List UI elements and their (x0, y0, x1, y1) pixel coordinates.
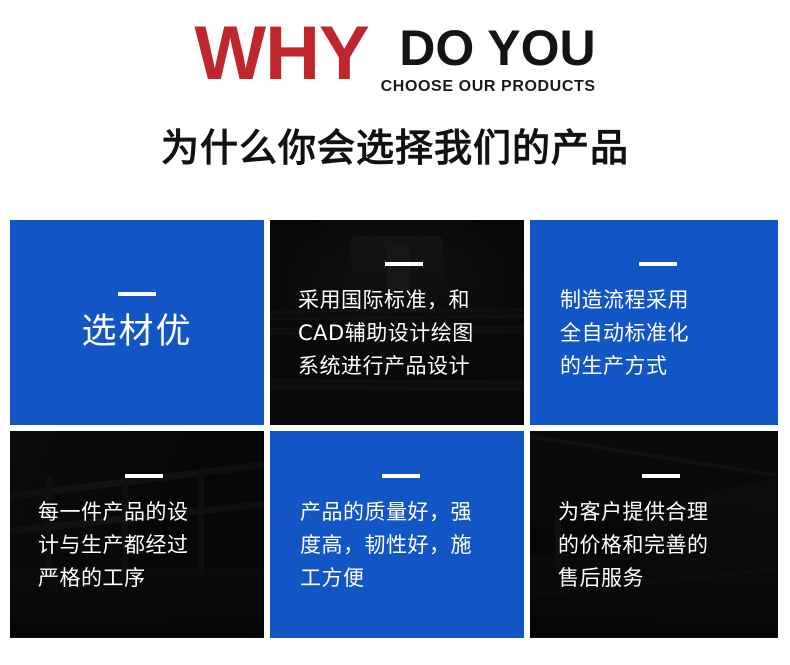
feature-card-content: 采用国际标准，和 CAD辅助设计绘图 系统进行产品设计 (270, 262, 524, 383)
feature-card-content: 产品的质量好，强 度高，韧性好，施 工方便 (270, 474, 524, 595)
feature-card-automated-production[interactable]: 制造流程采用 全自动标准化 的生产方式 (530, 220, 778, 425)
divider-rule-icon (125, 474, 163, 478)
headline-english: WHY DO YOU CHOOSE OUR PRODUCTS (0, 16, 790, 94)
divider-rule-icon (642, 474, 680, 478)
divider-rule-icon (385, 262, 423, 266)
feature-card-content: 制造流程采用 全自动标准化 的生产方式 (530, 262, 778, 383)
feature-card-international-standard[interactable]: 采用国际标准，和 CAD辅助设计绘图 系统进行产品设计 (270, 220, 524, 425)
divider-rule-icon (382, 474, 420, 478)
headline-accent-word: WHY (194, 16, 368, 92)
feature-card-text: 选材优 (10, 310, 264, 354)
feature-card-quality-strength[interactable]: 产品的质量好，强 度高，韧性好，施 工方便 (270, 431, 524, 638)
headline-chinese: 为什么你会选择我们的产品 (0, 126, 790, 170)
headline-main-words: DO YOU (399, 22, 595, 74)
feature-card-text: 每一件产品的设 计与生产都经过 严格的工序 (38, 496, 250, 595)
overhead-wire (530, 432, 778, 479)
feature-card-text: 采用国际标准，和 CAD辅助设计绘图 系统进行产品设计 (298, 284, 510, 383)
feature-card-text: 制造流程采用 全自动标准化 的生产方式 (560, 284, 756, 383)
banner-header: WHY DO YOU CHOOSE OUR PRODUCTS 为什么你会选择我们… (0, 0, 790, 212)
feature-card-content: 为客户提供合理 的价格和完善的 售后服务 (530, 474, 778, 595)
feature-card-strict-process[interactable]: 每一件产品的设 计与生产都经过 严格的工序 (10, 431, 264, 638)
feature-card-price-after-sales[interactable]: 为客户提供合理 的价格和完善的 售后服务 (530, 431, 778, 638)
feature-card-material-selection[interactable]: 选材优 (10, 220, 264, 425)
headline-right-group: DO YOU CHOOSE OUR PRODUCTS (381, 16, 596, 96)
feature-card-text: 为客户提供合理 的价格和完善的 售后服务 (558, 496, 764, 595)
headline-subtitle: CHOOSE OUR PRODUCTS (381, 78, 596, 96)
feature-card-text: 产品的质量好，强 度高，韧性好，施 工方便 (300, 496, 502, 595)
feature-card-content: 每一件产品的设 计与生产都经过 严格的工序 (10, 474, 264, 595)
divider-rule-icon (118, 292, 156, 296)
feature-grid: 选材优 采用国际标准，和 CAD辅助设计绘图 系统进行产品设计 制造流程采用 全… (10, 220, 778, 638)
feature-card-content: 选材优 (10, 292, 264, 354)
divider-rule-icon (639, 262, 677, 266)
promo-banner: WHY DO YOU CHOOSE OUR PRODUCTS 为什么你会选择我们… (0, 0, 790, 665)
